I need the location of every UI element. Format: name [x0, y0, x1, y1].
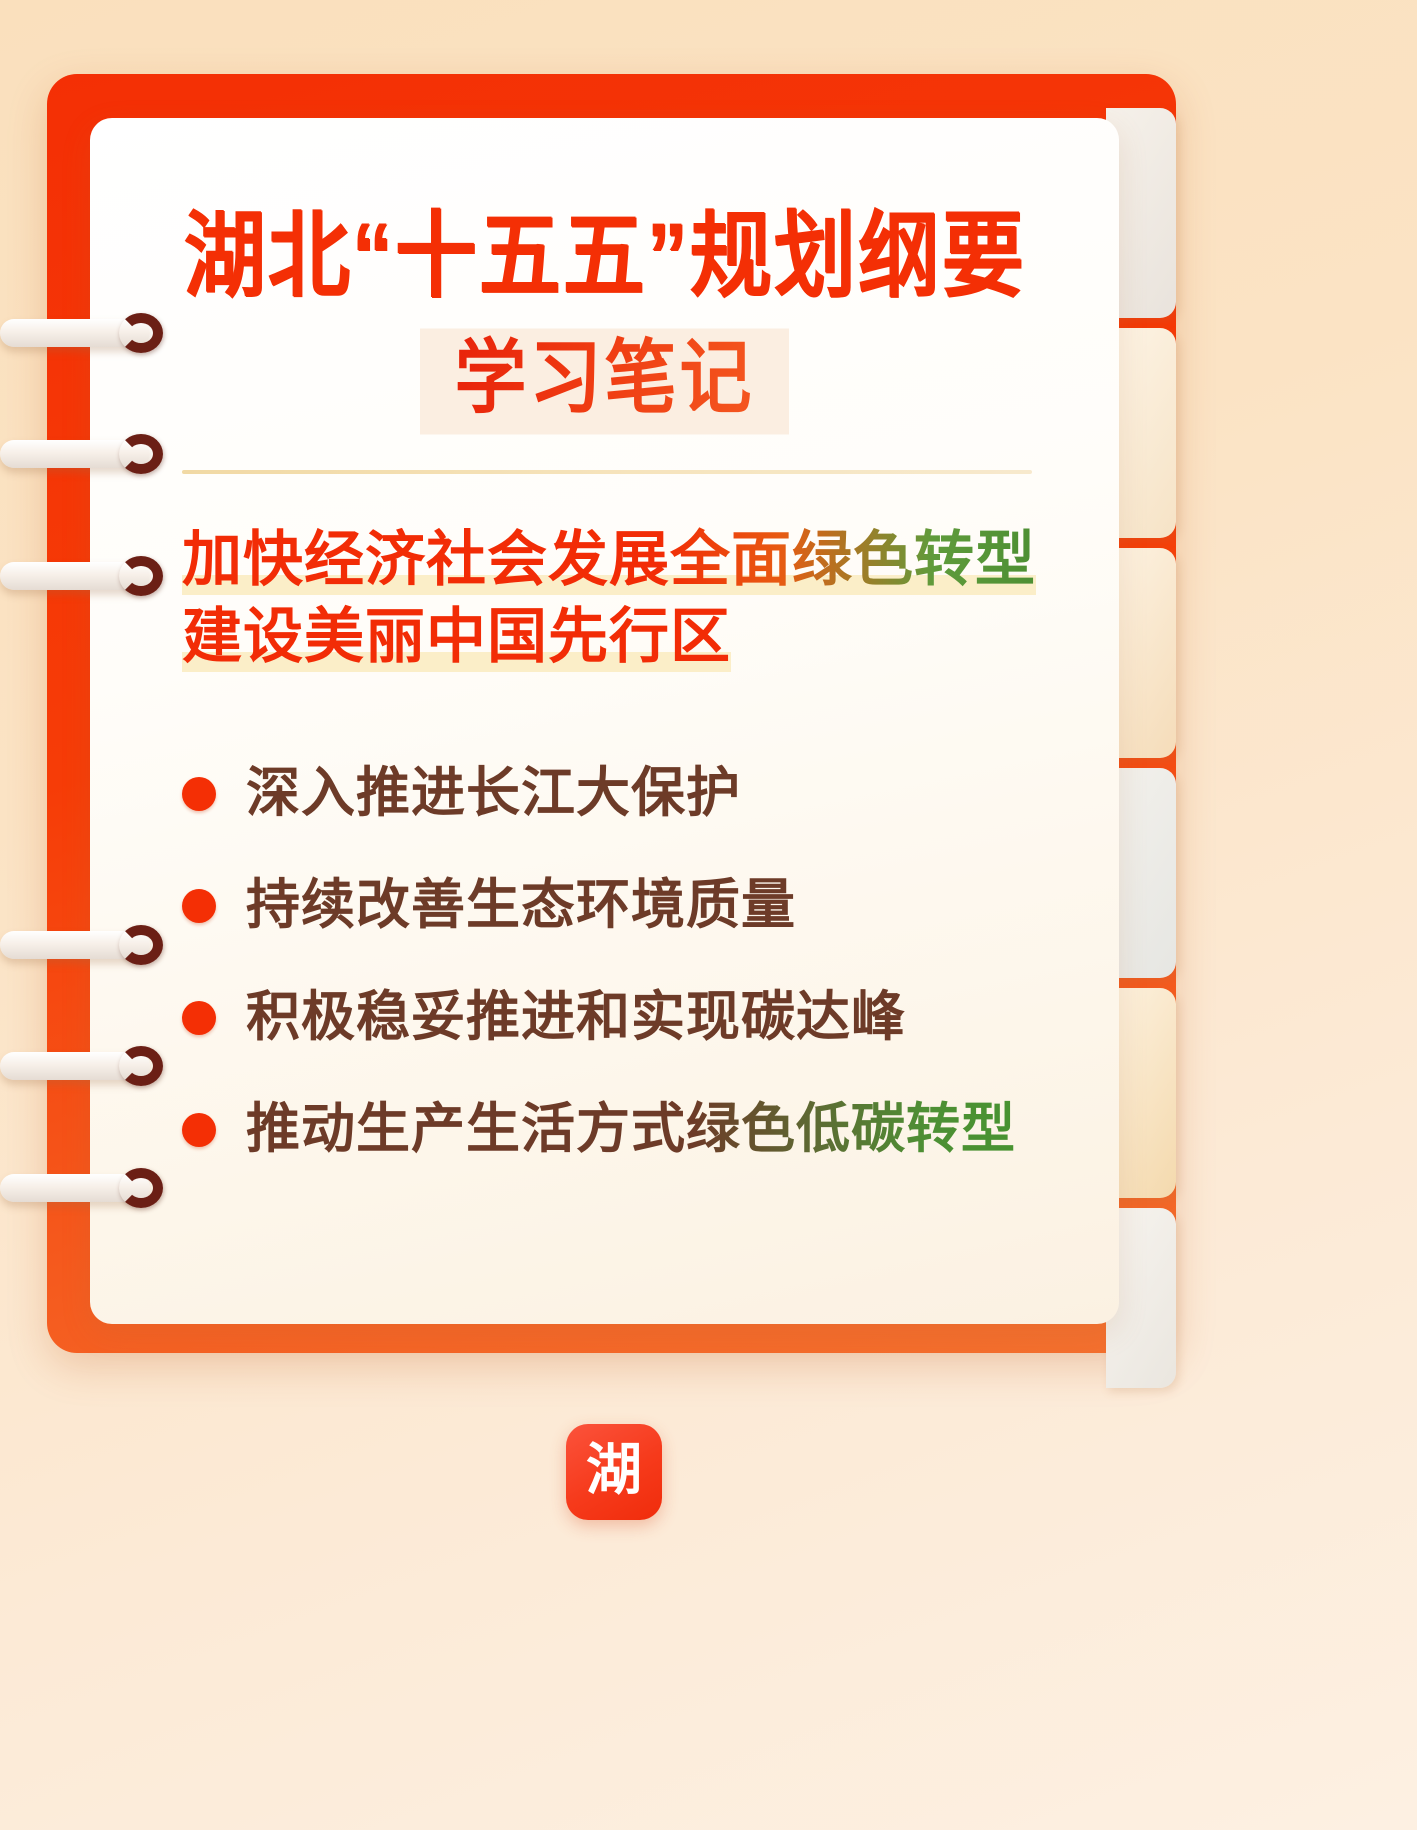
list-item-label: 持续改善生态环境质量	[246, 876, 796, 935]
section-heading: 加快经济社会发展全面绿色转型 建设美丽中国先行区	[182, 522, 1062, 676]
bullet-list: 深入推进长江大保护 持续改善生态环境质量 积极稳妥推进和实现碳达峰 推动生产生活…	[182, 738, 1082, 1186]
bullet-dot-icon	[182, 1113, 216, 1147]
binder-ring-loop-icon	[119, 925, 163, 965]
subtitle-text: 学习笔记	[454, 334, 754, 424]
bullet-dot-icon	[182, 889, 216, 923]
bullet-dot-icon	[182, 1001, 216, 1035]
section-heading-line-1: 加快经济社会发展全面绿色转型	[182, 522, 1062, 599]
list-item[interactable]: 推动生产生活方式绿色低碳转型	[182, 1074, 1082, 1186]
subtitle-highlight: 学习笔记	[420, 328, 788, 435]
divider	[182, 470, 1032, 474]
list-item[interactable]: 持续改善生态环境质量	[182, 850, 1082, 962]
binder-ring-loop-icon	[119, 556, 163, 596]
binder-ring-6	[0, 1168, 170, 1208]
page-title: 湖北“十五五”规划纲要	[90, 208, 1119, 306]
list-item-label: 积极稳妥推进和实现碳达峰	[246, 988, 906, 1047]
brand-logo[interactable]: 湖	[566, 1424, 662, 1520]
list-item-label: 推动生产生活方式绿色低碳转型	[246, 1100, 1016, 1159]
bullet-dot-icon	[182, 777, 216, 811]
section-heading-line-2: 建设美丽中国先行区	[182, 599, 1062, 676]
title-block: 湖北“十五五”规划纲要 学习笔记	[90, 208, 1119, 429]
binder-ring-loop-icon	[119, 1046, 163, 1086]
list-item[interactable]: 深入推进长江大保护	[182, 738, 1082, 850]
list-item[interactable]: 积极稳妥推进和实现碳达峰	[182, 962, 1082, 1074]
binder-ring-3	[0, 556, 170, 596]
binder-ring-loop-icon	[119, 434, 163, 474]
binder-ring-5	[0, 1046, 170, 1086]
binder-ring-1	[0, 313, 170, 353]
binder-ring-4	[0, 925, 170, 965]
binder-ring-loop-icon	[119, 1168, 163, 1208]
binder-ring-loop-icon	[119, 313, 163, 353]
list-item-label: 深入推进长江大保护	[246, 764, 741, 823]
binder-ring-2	[0, 434, 170, 474]
notebook-page: 湖北“十五五”规划纲要 学习笔记 加快经济社会发展全面绿色转型 建设美丽中国先行…	[90, 118, 1119, 1324]
brand-logo-text: 湖	[586, 1442, 642, 1498]
subtitle-row: 学习笔记	[90, 334, 1119, 429]
